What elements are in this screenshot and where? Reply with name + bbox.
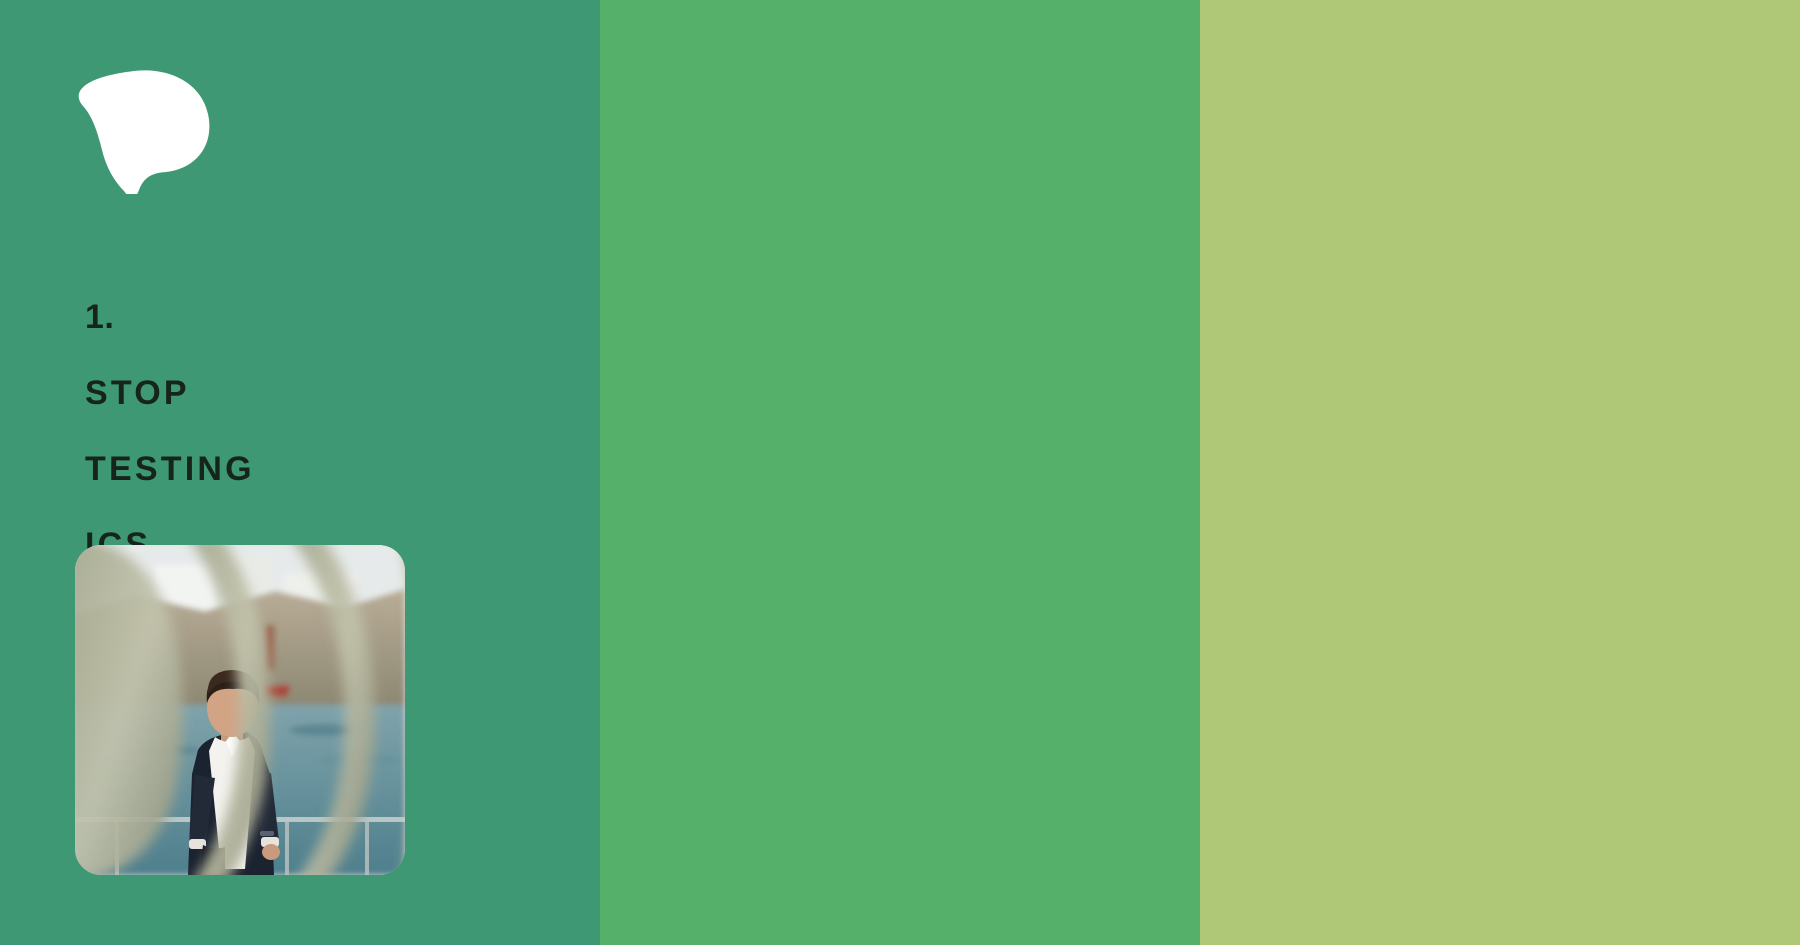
headline-line-1-1: STOP — [85, 376, 605, 410]
column-3: 3. EARLY TREATMENT KITS IN PHARMACIES — [1200, 0, 1800, 945]
item-number-1: 1. — [85, 300, 605, 334]
patreon-logo-icon[interactable] — [74, 70, 210, 194]
column-1: 1. STOP TESTING ICS — [0, 0, 600, 945]
headline-line-1-2: TESTING — [85, 452, 605, 486]
text-block-1: 1. STOP TESTING ICS — [85, 300, 605, 562]
profile-photo — [75, 545, 405, 875]
poster-canvas: 1. STOP TESTING ICS — [0, 0, 1800, 945]
column-2: 2. TAKE VITAMIN D MIN 2000 IU IN WINTER — [600, 0, 1200, 945]
